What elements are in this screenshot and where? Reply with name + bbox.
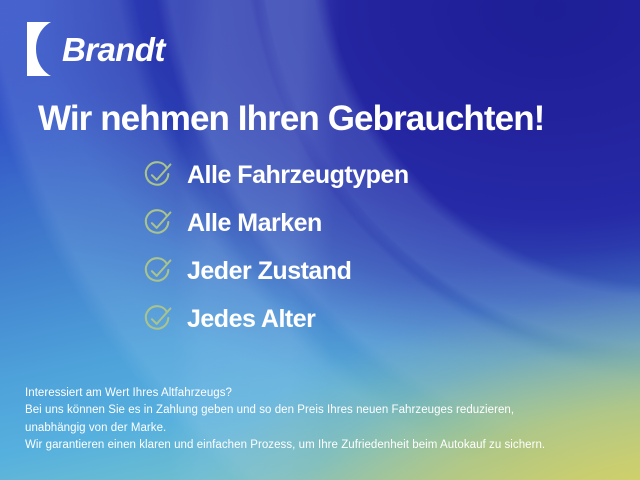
list-item: Alle Fahrzeugtypen (143, 159, 409, 191)
list-item: Alle Marken (143, 207, 409, 239)
headline: Wir nehmen Ihren Gebrauchten! (38, 99, 544, 138)
footer-paragraph: Interessiert am Wert Ihres Altfahrzeugs?… (25, 385, 545, 455)
check-circle-icon (143, 256, 173, 286)
benefit-label: Jeder Zustand (187, 259, 351, 284)
check-circle-icon (143, 208, 173, 238)
benefit-list: Alle Fahrzeugtypen Alle Marken Jeder Zus… (143, 159, 409, 335)
list-item: Jeder Zustand (143, 255, 409, 287)
benefit-label: Alle Fahrzeugtypen (187, 163, 409, 188)
footer-line-2: Bei uns können Sie es in Zahlung geben u… (25, 402, 545, 419)
brandt-bracket-icon (27, 22, 55, 76)
brandt-wordmark: Brandt (62, 33, 165, 66)
footer-line-3: unabhängig von der Marke. (25, 420, 545, 437)
check-circle-icon (143, 304, 173, 334)
footer-line-4: Wir garantieren einen klaren und einfach… (25, 437, 545, 454)
benefit-label: Alle Marken (187, 211, 322, 236)
list-item: Jedes Alter (143, 303, 409, 335)
brandt-logo: Brandt (27, 22, 165, 76)
footer-line-1: Interessiert am Wert Ihres Altfahrzeugs? (25, 385, 545, 402)
check-circle-icon (143, 160, 173, 190)
trade-in-promo-banner: Brandt Wir nehmen Ihren Gebrauchten! All… (0, 0, 640, 480)
benefit-label: Jedes Alter (187, 307, 315, 332)
